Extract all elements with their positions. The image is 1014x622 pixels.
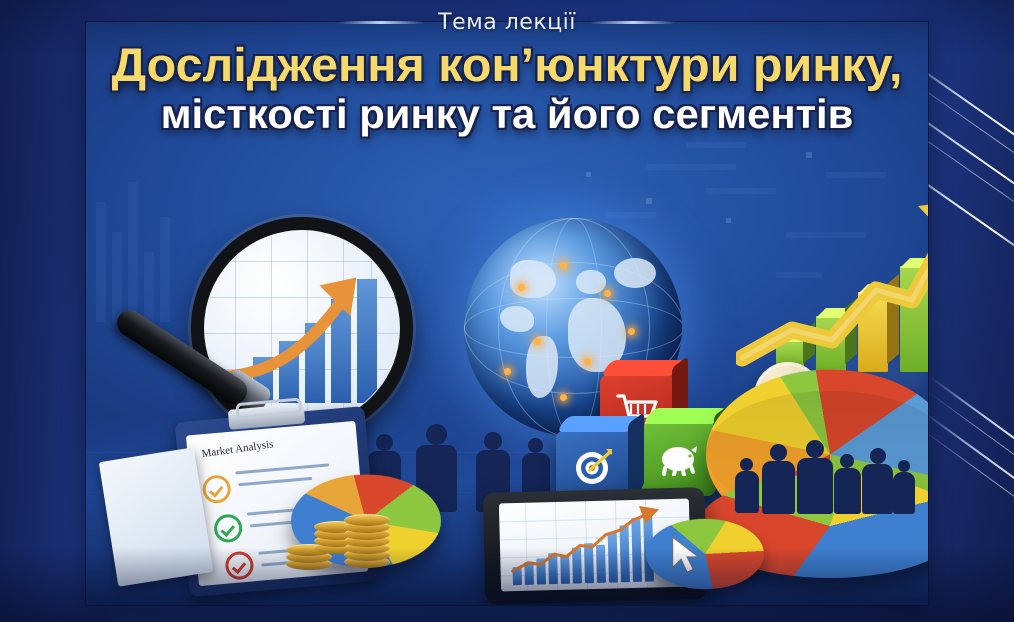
- tablet-device: [483, 487, 708, 605]
- cursor-arrow-icon: [668, 534, 714, 580]
- cluster-bar-chart: [776, 237, 928, 372]
- left-pie-chart: [291, 462, 441, 580]
- check-orange-icon: [202, 474, 232, 504]
- coin-stacks: [286, 512, 406, 592]
- eyebrow-line-left: [338, 21, 424, 24]
- clipboard-title: Market Analysis: [201, 438, 274, 460]
- target-icon: [556, 430, 630, 504]
- desk-surface: [86, 415, 928, 605]
- magnifying-glass: [191, 217, 413, 439]
- clipboard: Market Analysis: [175, 406, 380, 597]
- growth-arrow-icon: [736, 190, 928, 380]
- people-silhouettes-on-pie: [734, 434, 914, 514]
- tablet-chart: [499, 499, 691, 592]
- magnifier-chart: [205, 231, 399, 425]
- check-red-icon: [224, 550, 254, 580]
- slide-header: Тема лекції Дослідження кон’юнктури ринк…: [0, 10, 1014, 136]
- pie-base-disc: [698, 474, 928, 578]
- big-pie-chart: [706, 352, 928, 557]
- check-green-icon: [213, 513, 243, 543]
- diagonal-streaks-right: [930, 370, 1014, 550]
- shopping-cart-cube: [600, 374, 674, 448]
- slide-title-line-1: Дослідження кон’юнктури ринку,: [0, 41, 1014, 90]
- slide-title-line-2: місткості ринку та його сегментів: [0, 93, 1014, 136]
- tablet-pie-chart: [646, 508, 764, 600]
- eyebrow-label: Тема лекції: [438, 10, 576, 35]
- slide-canvas: Market Analysis: [0, 0, 1014, 622]
- target-cube: [556, 430, 630, 504]
- world-globe: [464, 218, 682, 436]
- piggy-bank-cube: [642, 422, 716, 496]
- dollar-coin-icon: $: [754, 362, 822, 430]
- shopping-cart-icon: [600, 374, 674, 448]
- paper-sheet: [99, 447, 214, 586]
- piggy-bank-icon: [642, 422, 716, 496]
- rising-arrow-icon: [205, 231, 399, 425]
- trend-line-icon: [499, 499, 691, 592]
- people-silhouettes-left: [264, 422, 564, 512]
- eyebrow-line-right: [590, 21, 676, 24]
